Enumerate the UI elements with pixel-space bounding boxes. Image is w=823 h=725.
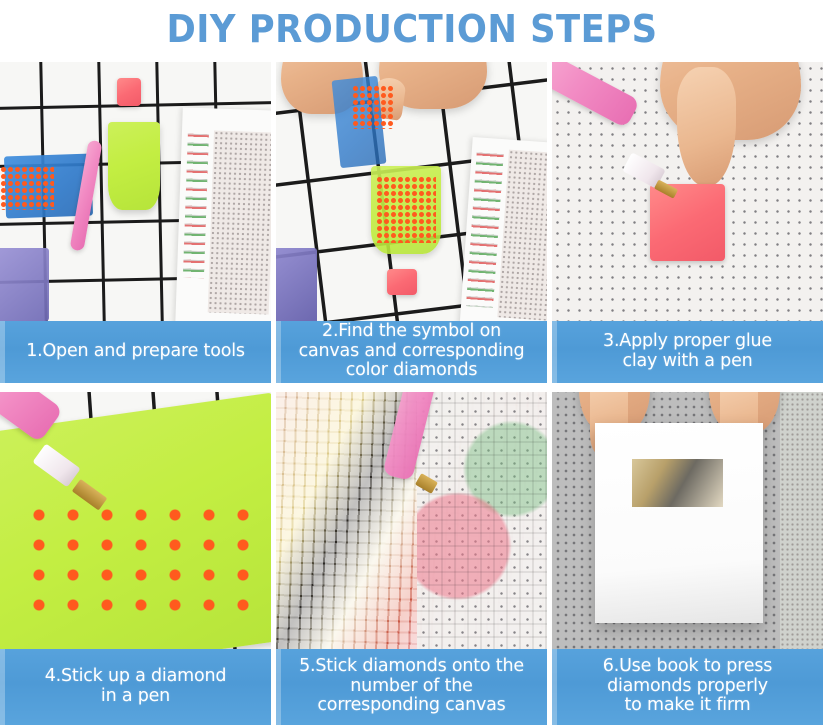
step-card-5: 5.Stick diamonds onto the number of the …: [276, 392, 547, 725]
chart-preview-art: [497, 149, 547, 321]
purple-diamond-baggie: [276, 248, 317, 321]
chart-legend-strip: [183, 133, 209, 277]
step-4-photo: [0, 392, 271, 649]
step-card-1: 1.Open and prepare tools: [0, 62, 271, 383]
orange-diamonds-in-tray: [22, 500, 250, 629]
step-4-caption: 4.Stick up a diamond in a pen: [0, 649, 271, 725]
canvas-right-edge-art: [780, 392, 823, 649]
step-5-caption: 5.Stick diamonds onto the number of the …: [276, 649, 547, 725]
step-3-photo: [552, 62, 823, 321]
index-finger: [677, 67, 737, 186]
step-card-6: 6.Use book to press diamonds properly to…: [552, 392, 823, 725]
step-5-photo: [276, 392, 547, 649]
steps-grid: 1.Open and prepare tools: [0, 62, 823, 725]
book-cover-photo: [632, 459, 723, 507]
colored-diamond-beads: [417, 392, 547, 649]
step-1-photo: [0, 62, 271, 321]
page-title: DIY PRODUCTION STEPS: [166, 10, 657, 48]
step-6-photo: [552, 392, 823, 649]
step-6-caption: 6.Use book to press diamonds properly to…: [552, 649, 823, 725]
step-card-2: 2.Find the symbol on canvas and correspo…: [276, 62, 547, 383]
step-2-caption: 2.Find the symbol on canvas and correspo…: [276, 321, 547, 383]
step-2-photo: [276, 62, 547, 321]
step-card-4: 4.Stick up a diamond in a pen: [0, 392, 271, 725]
chart-legend-strip: [465, 152, 503, 307]
diamonds-in-tray: [376, 176, 436, 243]
step-card-3: 3.Apply proper glue clay with a pen: [552, 62, 823, 383]
glue-clay-square: [650, 184, 726, 262]
pressing-book: [595, 423, 763, 623]
page-title-bar: DIY PRODUCTION STEPS: [0, 0, 823, 58]
glue-clay-square: [387, 269, 417, 295]
color-chart-paper: [459, 137, 547, 321]
green-diamond-tray: [108, 122, 159, 210]
step-1-caption: 1.Open and prepare tools: [0, 321, 271, 383]
step-3-caption: 3.Apply proper glue clay with a pen: [552, 321, 823, 383]
glue-clay-square: [117, 78, 141, 106]
orange-diamonds-pile: [0, 166, 54, 210]
diy-production-steps-infographic: DIY PRODUCTION STEPS: [0, 0, 823, 725]
pouring-orange-diamonds: [352, 85, 395, 129]
color-chart-paper: [175, 107, 271, 321]
chart-preview-art: [208, 130, 271, 315]
purple-diamond-baggie: [0, 248, 49, 321]
